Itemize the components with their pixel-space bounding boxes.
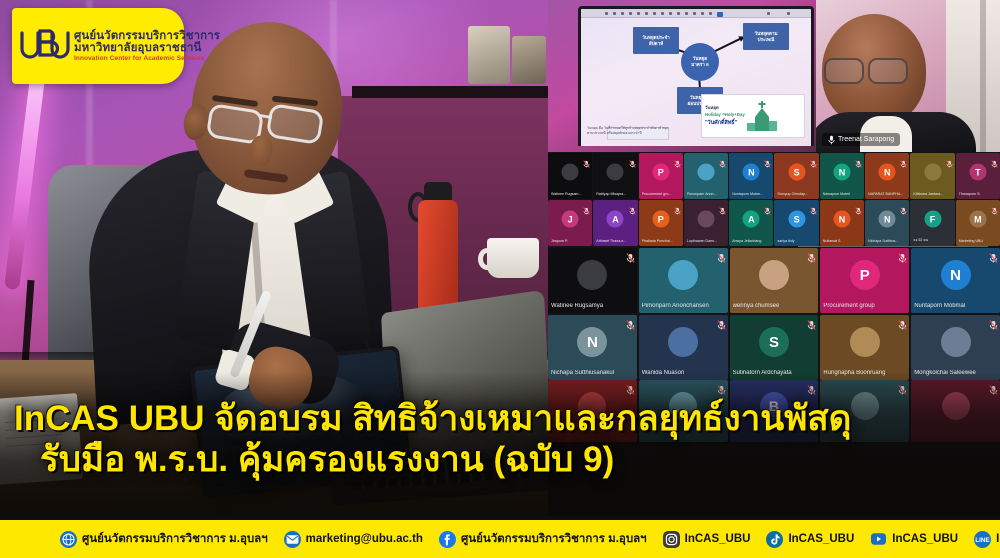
headline-block: InCAS UBU จัดอบรม สิทธิจ้างเหมาและกลยุทธ… <box>0 398 1000 481</box>
participant-name: Pimonparn Anonchansen <box>642 303 725 309</box>
mic-muted-icon <box>810 155 817 163</box>
footer-contact-item[interactable]: marketing@ubu.ac.th <box>284 531 423 548</box>
participant-name: Jiraporn P. <box>551 239 589 243</box>
svg-text:LINE: LINE <box>975 537 990 544</box>
avatar: A <box>743 211 760 228</box>
participant-tile[interactable]: MMarketing UBU <box>956 200 1000 246</box>
avatar <box>850 327 880 357</box>
avatar <box>607 164 624 181</box>
footer-contact-label: marketing@ubu.ac.th <box>306 533 423 545</box>
shared-screen-pane: วันหยุดประจำ สัปดาห์ วันหยุดตาม ประเพณี … <box>548 0 816 152</box>
ubu-monogram-icon <box>18 21 70 71</box>
participant-tile[interactable]: NNichapa Sutthiusanakul <box>548 315 637 380</box>
participant-tile[interactable]: SSomyup Chindap... <box>774 153 818 199</box>
mic-muted-icon <box>764 155 771 163</box>
participant-name: Pimonparn Anon... <box>687 192 725 196</box>
logo-line-2: มหาวิทยาลัยอุบลราชธานี <box>74 42 220 54</box>
avatar: P <box>652 164 669 181</box>
participant-grid-row3[interactable]: Watinee RugsamyaPimonparn Anonchansenwer… <box>548 248 1000 313</box>
mic-muted-icon <box>717 317 726 327</box>
active-speaker-pane: Treenat Sarapong <box>816 0 1000 152</box>
avatar <box>562 164 579 181</box>
mic-muted-icon <box>717 250 726 260</box>
participant-name: Somyup Chindap... <box>777 192 815 196</box>
footer-contact-item[interactable]: InCAS_UBU <box>870 531 958 548</box>
slide-node-right: วันหยุดตาม ประเพณี <box>743 23 789 50</box>
mic-muted-icon <box>583 202 590 210</box>
slide-node-left: วันหยุดประจำ สัปดาห์ <box>633 27 679 54</box>
mic-muted-icon <box>946 155 953 163</box>
email-icon[interactable] <box>284 531 301 548</box>
speaker-background-door <box>980 0 986 152</box>
footer-contact-item[interactable]: InCAS_UBU <box>766 531 854 548</box>
logo-line-3: Innovation Center for Academic Services <box>74 56 220 63</box>
avatar: N <box>879 211 896 228</box>
participant-name: Watinee Rugsamya <box>551 303 634 309</box>
avatar: N <box>941 260 971 290</box>
coffee-mug <box>487 238 539 278</box>
avatar: M <box>969 211 986 228</box>
participant-name: Atthawit Thana-e... <box>596 239 634 243</box>
avatar <box>698 211 715 228</box>
participant-name: NAPARAT BANPHA... <box>868 192 906 196</box>
avatar: P <box>652 211 669 228</box>
speaker-glasses-right <box>868 58 908 84</box>
mic-muted-icon <box>807 317 816 327</box>
mic-muted-icon <box>626 250 635 260</box>
mic-muted-icon <box>855 155 862 163</box>
participant-tile[interactable]: Rungnapha Boonruang <box>820 315 909 380</box>
participant-tile[interactable]: SSutinatorn Ardchayata <box>730 315 819 380</box>
mic-muted-icon <box>629 155 636 163</box>
participant-name: Marketing UBU <box>959 239 997 243</box>
avatar: N <box>833 164 850 181</box>
presentation-slide: วันหยุดประจำ สัปดาห์ วันหยุดตาม ประเพณี … <box>578 6 814 146</box>
promo-poster: วันหยุดประจำ สัปดาห์ วันหยุดตาม ประเพณี … <box>0 0 1000 558</box>
participant-tile[interactable]: NNawaporn Moteri <box>820 153 864 199</box>
mic-muted-icon <box>810 202 817 210</box>
slide-node-right-label: วันหยุดตาม ประเพณี <box>754 31 777 43</box>
participant-name: Nuntaporn Mobmal <box>914 303 997 309</box>
speaker-glasses-left <box>824 58 864 84</box>
mic-muted-icon <box>674 155 681 163</box>
avatar: S <box>759 327 789 357</box>
avatar: N <box>743 164 760 181</box>
participant-tile[interactable]: NNuttawat S. <box>820 200 864 246</box>
participant-tile[interactable]: NNuntaporn Mobmal <box>911 248 1000 313</box>
grid-divider <box>798 246 988 247</box>
line-icon[interactable]: LINE <box>974 531 991 548</box>
participant-name: Nuttawat S. <box>823 239 861 243</box>
mic-muted-icon <box>898 317 907 327</box>
participant-name: Watinee Rugsam... <box>551 192 589 196</box>
avatar <box>668 260 698 290</box>
shelf <box>352 86 560 98</box>
mic-muted-icon <box>629 202 636 210</box>
participant-tile[interactable]: Lupthawan Daen... <box>684 200 728 246</box>
avatar <box>668 327 698 357</box>
footer-contact-item[interactable]: ศูนย์นวัตกรรมบริการวิชาการ ม.อุบลฯ <box>439 530 647 548</box>
slide-side-card: วันหยุด Holiday =Holy+Day "วันศักดิ์สิทธ… <box>701 94 805 138</box>
avatar: F <box>924 211 941 228</box>
meeting-top-panes: วันหยุดประจำ สัปดาห์ วันหยุดตาม ประเพณี … <box>548 0 1000 152</box>
participant-tile[interactable]: Fธง 52 คน <box>910 200 954 246</box>
footer-contact-item[interactable]: LINEInCAS_UBU <box>974 531 1000 548</box>
mic-muted-icon <box>991 202 998 210</box>
led-light <box>4 60 47 290</box>
speaker-name-label: Treenat Sarapong <box>838 136 894 143</box>
avatar <box>759 260 789 290</box>
participant-name: werinya chumsee <box>733 303 816 309</box>
participant-name: Phatlada Punchai... <box>642 239 680 243</box>
mic-muted-icon <box>989 250 998 260</box>
footer-contact-label: InCAS_UBU <box>892 533 958 545</box>
mic-muted-icon <box>719 155 726 163</box>
headline-line-2: รับมือ พ.ร.บ. คุ้มครองแรงงาน (ฉบับ 9) <box>14 439 986 480</box>
avatar: N <box>833 211 850 228</box>
mic-muted-icon <box>828 135 834 144</box>
footer-contact-label: InCAS_UBU <box>788 533 854 545</box>
participant-name: Procurement group <box>823 303 906 309</box>
mic-muted-icon <box>898 250 907 260</box>
avatar: N <box>577 327 607 357</box>
instagram-icon[interactable] <box>663 531 680 548</box>
logo-line-1: ศูนย์นวัตกรรมบริการวิชาการ <box>74 30 220 42</box>
slide-node-left-label: วันหยุดประจำ สัปดาห์ <box>642 35 670 47</box>
participant-tile[interactable]: PProcurement gro... <box>639 153 683 199</box>
participant-name: Kittiwara Jantara... <box>913 192 951 196</box>
participant-name: Nuntaporn Mobm... <box>732 192 770 196</box>
participant-tile[interactable]: Rattiyap Misapra... <box>593 153 637 199</box>
participant-tile[interactable]: Kittiwara Jantara... <box>910 153 954 199</box>
participant-tile[interactable]: NNichapa Sutthius... <box>865 200 909 246</box>
participant-name: ธง 52 คน <box>913 237 951 243</box>
mic-muted-icon <box>855 202 862 210</box>
avatar: A <box>607 211 624 228</box>
speaker-name-badge: Treenat Sarapong <box>822 133 900 146</box>
footer-contact-label: ศูนย์นวัตกรรมบริการวิชาการ ม.อุบลฯ <box>82 530 268 548</box>
avatar: S <box>788 164 805 181</box>
participant-name: Thanaporn S. <box>959 192 997 196</box>
card-line-3: "วันศักดิ์สิทธิ์" <box>705 119 745 127</box>
avatar: T <box>969 164 986 181</box>
participant-name: Rattiyap Misapra... <box>596 192 634 196</box>
participant-tile[interactable]: Ssariya itoly <box>774 200 818 246</box>
participant-tile[interactable]: NNAPARAT BANPHA... <box>865 153 909 199</box>
mic-muted-icon <box>989 317 998 327</box>
participant-tile[interactable]: Pimonparn Anon... <box>684 153 728 199</box>
avatar: N <box>879 164 896 181</box>
participant-tile[interactable]: AAtthawit Thana-e... <box>593 200 637 246</box>
contact-footer: ศูนย์นวัตกรรมบริการวิชาการ ม.อุบลฯmarket… <box>0 520 1000 558</box>
mic-muted-icon <box>900 155 907 163</box>
slide-card-text: วันหยุด Holiday =Holy+Day "วันศักดิ์สิทธ… <box>705 105 745 126</box>
participant-tile[interactable]: Pimonparn Anonchansen <box>639 248 728 313</box>
avatar <box>941 327 971 357</box>
mic-muted-icon <box>719 202 726 210</box>
avatar: J <box>562 211 579 228</box>
avatar <box>924 164 941 181</box>
card-line-2: Holiday =Holy+Day <box>705 112 745 119</box>
participant-name: Nawaporn Moteri <box>823 192 861 196</box>
participant-tile[interactable]: JJiraporn P. <box>548 200 592 246</box>
participant-name: Nichapa Sutthius... <box>868 239 906 243</box>
youtube-icon[interactable] <box>870 531 887 548</box>
participant-name: Anwya Jellaobang <box>732 239 770 243</box>
participant-grid-row4[interactable]: NNichapa SutthiusanakulWanida NuasonSSut… <box>548 315 1000 380</box>
avatar <box>698 164 715 181</box>
mic-muted-icon <box>626 317 635 327</box>
church-icon <box>745 99 779 133</box>
participant-tile[interactable]: werinya chumsee <box>730 248 819 313</box>
avatar: S <box>788 211 805 228</box>
shelf-box <box>468 26 510 84</box>
mic-muted-icon <box>764 202 771 210</box>
facebook-icon[interactable] <box>439 531 456 548</box>
participant-tile[interactable]: Watinee Rugsam... <box>548 153 592 199</box>
tiktok-icon[interactable] <box>766 531 783 548</box>
slide-note: วันหยุด คือ วันที่กำหนดให้ลูกจ้างหยุดประ… <box>587 126 669 136</box>
participant-tile[interactable]: Wanida Nuason <box>639 315 728 380</box>
participant-grid-row1[interactable]: Watinee Rugsam...Rattiyap Misapra...PPro… <box>548 153 1000 199</box>
participant-tile[interactable]: PPhatlada Punchai... <box>639 200 683 246</box>
participant-tile[interactable]: TThanaporn S. <box>956 153 1000 199</box>
participant-tile[interactable]: Watinee Rugsamya <box>548 248 637 313</box>
slide-node-center-label: วันหยุด มาตรา 6 <box>691 56 708 68</box>
organization-logo: ศูนย์นวัตกรรมบริการวิชาการ มหาวิทยาลัยอุ… <box>12 8 184 84</box>
participant-tile[interactable]: PProcurement group <box>820 248 909 313</box>
footer-contact-label: ศูนย์นวัตกรรมบริการวิชาการ ม.อุบลฯ <box>461 530 647 548</box>
participant-tile[interactable]: Mongkolchai Saleewee <box>911 315 1000 380</box>
card-line-1: วันหยุด <box>705 105 745 112</box>
participant-tile[interactable]: AAnwya Jellaobang <box>729 200 773 246</box>
participant-tile[interactable]: NNuntaporn Mobm... <box>729 153 773 199</box>
footer-contact-label: InCAS_UBU <box>996 533 1000 545</box>
slide-node-center: วันหยุด มาตรา 6 <box>681 43 719 81</box>
footer-contact-item[interactable]: ศูนย์นวัตกรรมบริการวิชาการ ม.อุบลฯ <box>60 530 268 548</box>
logo-text-block: ศูนย์นวัตกรรมบริการวิชาการ มหาวิทยาลัยอุ… <box>74 30 220 63</box>
mic-muted-icon <box>807 250 816 260</box>
mic-muted-icon <box>991 155 998 163</box>
participant-name: Lupthawan Daen... <box>687 239 725 243</box>
mic-muted-icon <box>583 155 590 163</box>
participant-name: Procurement gro... <box>642 192 680 196</box>
mic-muted-icon <box>900 202 907 210</box>
participant-name: sariya itoly <box>777 239 815 243</box>
shelf-box <box>512 36 546 84</box>
footer-contact-label: InCAS_UBU <box>685 533 751 545</box>
footer-contact-item[interactable]: InCAS_UBU <box>663 531 751 548</box>
globe-icon[interactable] <box>60 531 77 548</box>
avatar <box>577 260 607 290</box>
avatar: P <box>850 260 880 290</box>
headline-line-1: InCAS UBU จัดอบรม สิทธิจ้างเหมาและกลยุทธ… <box>14 398 986 439</box>
mic-muted-icon <box>674 202 681 210</box>
participant-grid-row2[interactable]: JJiraporn P.AAtthawit Thana-e...PPhatlad… <box>548 200 1000 246</box>
slide-toolbar <box>581 9 811 18</box>
